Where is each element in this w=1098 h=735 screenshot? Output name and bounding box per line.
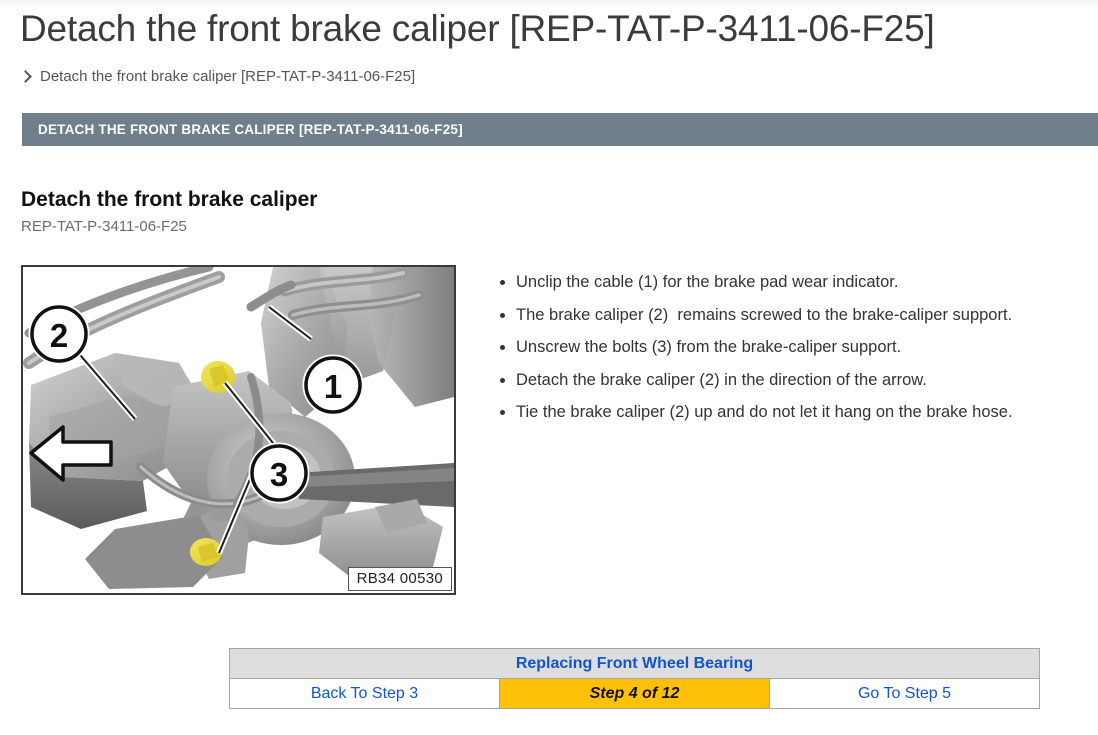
list-item: Detach the brake caliper (2) in the dire…	[516, 364, 1082, 397]
callout-1: 1	[306, 358, 360, 412]
list-item: Tie the brake caliper (2) up and do not …	[516, 396, 1082, 429]
list-item: The brake caliper (2) remains screwed to…	[516, 299, 1082, 332]
breadcrumb[interactable]: Detach the front brake caliper [REP-TAT-…	[21, 68, 415, 85]
back-to-step-button[interactable]: Back To Step 3	[230, 679, 500, 709]
diagram-illustration: 2 1 3	[23, 267, 454, 593]
list-item: Unscrew the bolts (3) from the brake-cal…	[516, 331, 1082, 364]
section-heading: Detach the front brake caliper	[21, 188, 317, 212]
breadcrumb-label[interactable]: Detach the front brake caliper [REP-TAT-…	[40, 68, 415, 85]
step-navigation: Replacing Front Wheel Bearing Back To St…	[229, 648, 1040, 709]
svg-text:1: 1	[324, 368, 342, 405]
section-header-bar: DETACH THE FRONT BRAKE CALIPER [REP-TAT-…	[22, 113, 1098, 146]
table-row: Back To Step 3 Step 4 of 12 Go To Step 5	[230, 679, 1040, 709]
document-page: Detach the front brake caliper [REP-TAT-…	[0, 0, 1098, 735]
instruction-list: Unclip the cable (1) for the brake pad w…	[492, 266, 1082, 429]
section-header-label: DETACH THE FRONT BRAKE CALIPER [REP-TAT-…	[38, 122, 463, 137]
chevron-right-icon	[19, 70, 32, 83]
svg-text:3: 3	[270, 456, 288, 493]
callout-3: 3	[252, 446, 306, 500]
figure-reference-code: RB34 00530	[348, 567, 452, 591]
go-to-step-button[interactable]: Go To Step 5	[770, 679, 1040, 709]
page-title: Detach the front brake caliper [REP-TAT-…	[20, 8, 935, 50]
svg-text:2: 2	[50, 317, 68, 354]
list-item: Unclip the cable (1) for the brake pad w…	[516, 266, 1082, 299]
section-code: REP-TAT-P-3411-06-F25	[21, 218, 187, 235]
table-row: Replacing Front Wheel Bearing	[230, 649, 1040, 679]
callout-2: 2	[32, 307, 86, 361]
technical-diagram: 2 1 3 RB34 00530	[21, 265, 456, 595]
procedure-title: Replacing Front Wheel Bearing	[230, 649, 1040, 679]
current-step-indicator: Step 4 of 12	[500, 679, 770, 709]
